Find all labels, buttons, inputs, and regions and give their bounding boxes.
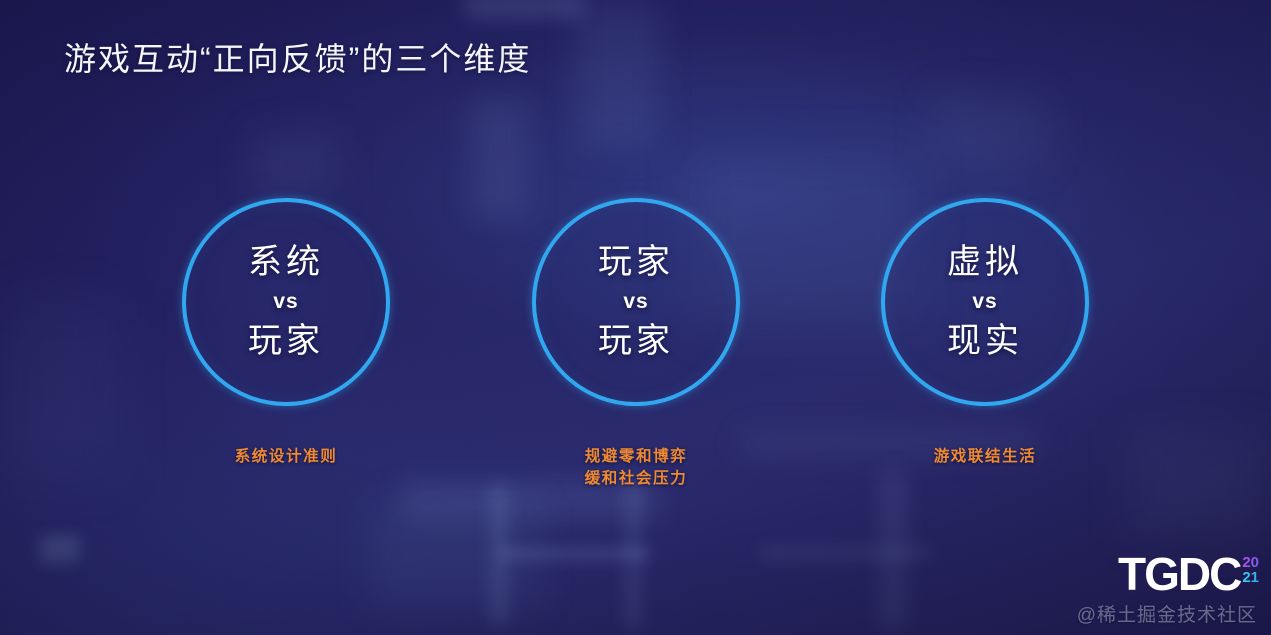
dimension-bottom-label: 玩家: [248, 323, 324, 360]
logo-wordmark: TGDC: [1118, 553, 1240, 595]
tgdc-logo: TGDC 20 21: [1118, 553, 1259, 595]
logo-year-bottom: 21: [1242, 570, 1259, 585]
dimension-circle: 玩家 vs 玩家: [532, 198, 740, 406]
dimension-vs-label: vs: [972, 290, 997, 314]
dimension-circle: 系统 vs 玩家: [182, 198, 390, 406]
dimension-caption-line: 游戏联结生活: [835, 446, 1135, 468]
dimension-caption: 规避零和博弈 缓和社会压力: [486, 446, 786, 490]
page-title: 游戏互动“正向反馈”的三个维度: [64, 34, 531, 80]
dimension-bottom-label: 玩家: [598, 323, 674, 360]
dimension-caption-line: 规避零和博弈: [486, 446, 786, 468]
dimension-top-label: 虚拟: [947, 244, 1023, 281]
dimension-caption: 系统设计准则: [136, 446, 436, 468]
dimension-top-label: 玩家: [598, 244, 674, 281]
dimension-column-system-vs-player: 系统 vs 玩家 系统设计准则: [136, 198, 436, 468]
dimension-circle: 虚拟 vs 现实: [881, 198, 1089, 406]
logo-year-badge: 20 21: [1242, 555, 1259, 585]
logo-year-top: 20: [1242, 555, 1259, 570]
watermark-text: @稀土掘金技术社区: [1077, 600, 1257, 627]
slide-canvas: 游戏互动“正向反馈”的三个维度 系统 vs 玩家 系统设计准则 玩家 vs 玩家…: [0, 0, 1271, 635]
dimension-column-player-vs-player: 玩家 vs 玩家 规避零和博弈 缓和社会压力: [486, 198, 786, 490]
dimension-column-virtual-vs-real: 虚拟 vs 现实 游戏联结生活: [835, 198, 1135, 468]
dimension-vs-label: vs: [273, 290, 298, 314]
dimension-vs-label: vs: [623, 290, 648, 314]
dimensions-row: 系统 vs 玩家 系统设计准则 玩家 vs 玩家 规避零和博弈 缓和社会压力 虚…: [0, 198, 1271, 413]
dimension-caption: 游戏联结生活: [835, 446, 1135, 468]
dimension-caption-line: 系统设计准则: [136, 446, 436, 468]
dimension-caption-line: 缓和社会压力: [486, 468, 786, 490]
dimension-bottom-label: 现实: [947, 323, 1023, 360]
dimension-top-label: 系统: [248, 244, 324, 281]
